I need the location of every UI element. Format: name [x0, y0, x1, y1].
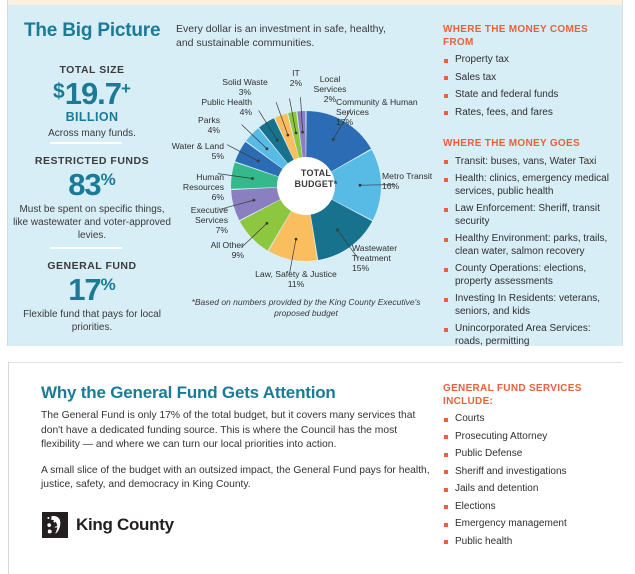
stat-desc: Must be spent on specific things, like w… [12, 203, 172, 242]
stat-label: GENERAL FUND [12, 260, 172, 272]
pie-label-local-services: Local Services 2% [308, 74, 352, 104]
money-out-item: County Operations: elections, property a… [443, 263, 615, 288]
pie-label-name: Human Resources [166, 172, 224, 192]
pie-label-value: 2% [284, 78, 308, 88]
pie-label-name: Metro Transit [382, 171, 442, 181]
pie-label-value: 2% [308, 94, 352, 104]
pie-label-water-land: Water & Land 5% [161, 141, 224, 161]
general-fund-item: Prosecuting Attorney [443, 431, 618, 444]
bottom-paragraph: A small slice of the budget with an outs… [41, 464, 431, 493]
pie-leader-dot [276, 139, 279, 142]
general-fund-item: Emergency management [443, 518, 618, 531]
pie-label-solid-waste: Solid Waste 3% [214, 77, 276, 97]
bottom-paragraph: The General Fund is only 17% of the tota… [41, 409, 431, 453]
page-title: The Big Picture [24, 20, 174, 42]
pie-label-value: 16% [382, 181, 442, 191]
stat-restricted-funds: RESTRICTED FUNDS 83% Must be spent on sp… [12, 155, 172, 242]
pie-label-name: Water & Land [161, 141, 224, 151]
pie-label-public-health: Public Health 4% [186, 97, 252, 117]
stat-value: 17% [12, 274, 172, 305]
stat-desc: Across many funds. [12, 127, 172, 140]
pie-label-name: Local Services [308, 74, 352, 94]
pie-label-name: Executive Services [174, 205, 228, 225]
pie-label-name: All Other [186, 240, 244, 250]
stat-number: 83 [68, 167, 100, 202]
money-in-item: State and federal funds [443, 89, 615, 102]
pie-label-name: IT [284, 68, 308, 78]
intro-text: Every dollar is an investment in safe, h… [176, 22, 406, 50]
general-fund-item: Courts [443, 413, 618, 426]
pie-label-value: 9% [186, 250, 244, 260]
page-edge-left-bottom [0, 362, 9, 574]
general-fund-list: CourtsProsecuting AttorneyPublic Defense… [443, 413, 618, 548]
general-fund-heading: GENERAL FUND SERVICES INCLUDE: [443, 383, 618, 408]
pie-leader-dot [251, 177, 254, 180]
money-in-item: Property tax [443, 54, 615, 67]
pie-label-it: IT 2% [284, 68, 308, 88]
money-out-item: Unincorporated Area Services: roads, per… [443, 323, 615, 348]
money-in-list: Property taxSales taxState and federal f… [443, 54, 615, 119]
pie-center-hole [277, 157, 335, 215]
pie-leader-dot [295, 238, 298, 241]
pie-leader-dot [266, 222, 269, 225]
pie-label-name: Law, Safety & Justice [236, 269, 356, 279]
pie-label-name: Wastewater Treatment [352, 243, 418, 263]
stat-divider-1 [50, 142, 122, 144]
pie-label-value: 4% [176, 125, 220, 135]
pie-label-value: 3% [214, 87, 276, 97]
king-county-portrait-icon [42, 512, 68, 538]
page-edge-left [0, 0, 8, 346]
money-out-item: Transit: buses, vans, Water Taxi [443, 156, 615, 169]
bottom-body: The General Fund is only 17% of the tota… [41, 409, 431, 504]
pie-label-value: 11% [236, 279, 356, 289]
pie-label-metro-transit: Metro Transit 16% [382, 171, 442, 191]
stat-suffix: % [101, 170, 116, 189]
general-fund-item: Sheriff and investigations [443, 466, 618, 479]
general-fund-item: Public health [443, 536, 618, 549]
general-fund-item: Jails and detention [443, 483, 618, 496]
stat-desc: Flexible fund that pays for local priori… [12, 308, 172, 334]
pie-leader-dot [301, 131, 304, 134]
pie-label-executive-services: Executive Services 7% [174, 205, 228, 235]
stat-value: $19.7+ [12, 78, 172, 109]
general-fund-column: GENERAL FUND SERVICES INCLUDE: CourtsPro… [443, 383, 618, 553]
king-county-wordmark: King County [76, 515, 174, 535]
king-county-logo: King County [42, 512, 174, 538]
page-edge-right [622, 0, 635, 346]
stat-unit: BILLION [12, 110, 172, 124]
stat-total-size: TOTAL SIZE $19.7+ BILLION Across many fu… [12, 64, 172, 140]
money-out-list: Transit: buses, vans, Water TaxiHealth: … [443, 156, 615, 349]
pie-leader-dot [336, 229, 339, 232]
money-out-item: Investing In Residents: veterans, senior… [443, 293, 615, 318]
stat-number: 19.7 [65, 76, 121, 111]
pie-label-value: 17% [336, 117, 428, 127]
stat-divider-2 [50, 247, 122, 249]
money-out-item: Health: clinics, emergency medical servi… [443, 173, 615, 198]
money-in-item: Sales tax [443, 72, 615, 85]
infographic-page: The Big Picture Every dollar is an inves… [0, 0, 635, 574]
general-fund-item: Public Defense [443, 448, 618, 461]
pie-leader-dot [359, 184, 362, 187]
money-out-heading: WHERE THE MONEY GOES [443, 138, 615, 151]
pie-label-all-other: All Other 9% [186, 240, 244, 260]
money-in-heading: WHERE THE MONEY COMES FROM [443, 24, 615, 49]
pie-leader-dot [253, 199, 256, 202]
stat-prefix: $ [53, 80, 65, 103]
stat-general-fund: GENERAL FUND 17% Flexible fund that pays… [12, 260, 172, 334]
pie-label-wastewater-treatment: Wastewater Treatment 15% [352, 243, 418, 273]
pie-label-value: 15% [352, 263, 418, 273]
list-spacer [443, 124, 615, 138]
pie-leader-dot [257, 160, 260, 163]
pie-label-value: 4% [186, 107, 252, 117]
pie-label-law-safety-justice: Law, Safety & Justice 11% [236, 269, 356, 289]
pie-label-name: Public Health [186, 97, 252, 107]
stat-value: 83% [12, 169, 172, 200]
money-out-item: Healthy Environment: parks, trails, clea… [443, 233, 615, 258]
pie-leader-dot [287, 134, 290, 137]
general-fund-item: Elections [443, 501, 618, 514]
pie-footnote: *Based on numbers provided by the King C… [186, 297, 426, 319]
stat-label: TOTAL SIZE [12, 64, 172, 76]
pie-label-value: 7% [174, 225, 228, 235]
pie-leader-dot [295, 132, 298, 135]
right-column: WHERE THE MONEY COMES FROM Property taxS… [443, 24, 615, 353]
pie-label-value: 6% [166, 192, 224, 202]
pie-label-value: 5% [161, 151, 224, 161]
pie-leader-dot [266, 147, 269, 150]
top-cream-strip [8, 0, 622, 5]
stat-suffix: + [121, 79, 131, 98]
money-out-item: Law Enforcement: Sheriff, transit securi… [443, 203, 615, 228]
stat-suffix: % [101, 275, 116, 294]
pie-label-name: Solid Waste [214, 77, 276, 87]
stat-label: RESTRICTED FUNDS [12, 155, 172, 167]
mlk-portrait-icon [42, 512, 68, 538]
stat-number: 17 [68, 272, 100, 307]
money-in-item: Rates, fees, and fares [443, 107, 615, 120]
pie-leader-dot [332, 138, 335, 141]
bottom-title: Why the General Fund Gets Attention [41, 383, 336, 403]
pie-label-human-resources: Human Resources 6% [166, 172, 224, 202]
pie-label-parks: Parks 4% [176, 115, 220, 135]
